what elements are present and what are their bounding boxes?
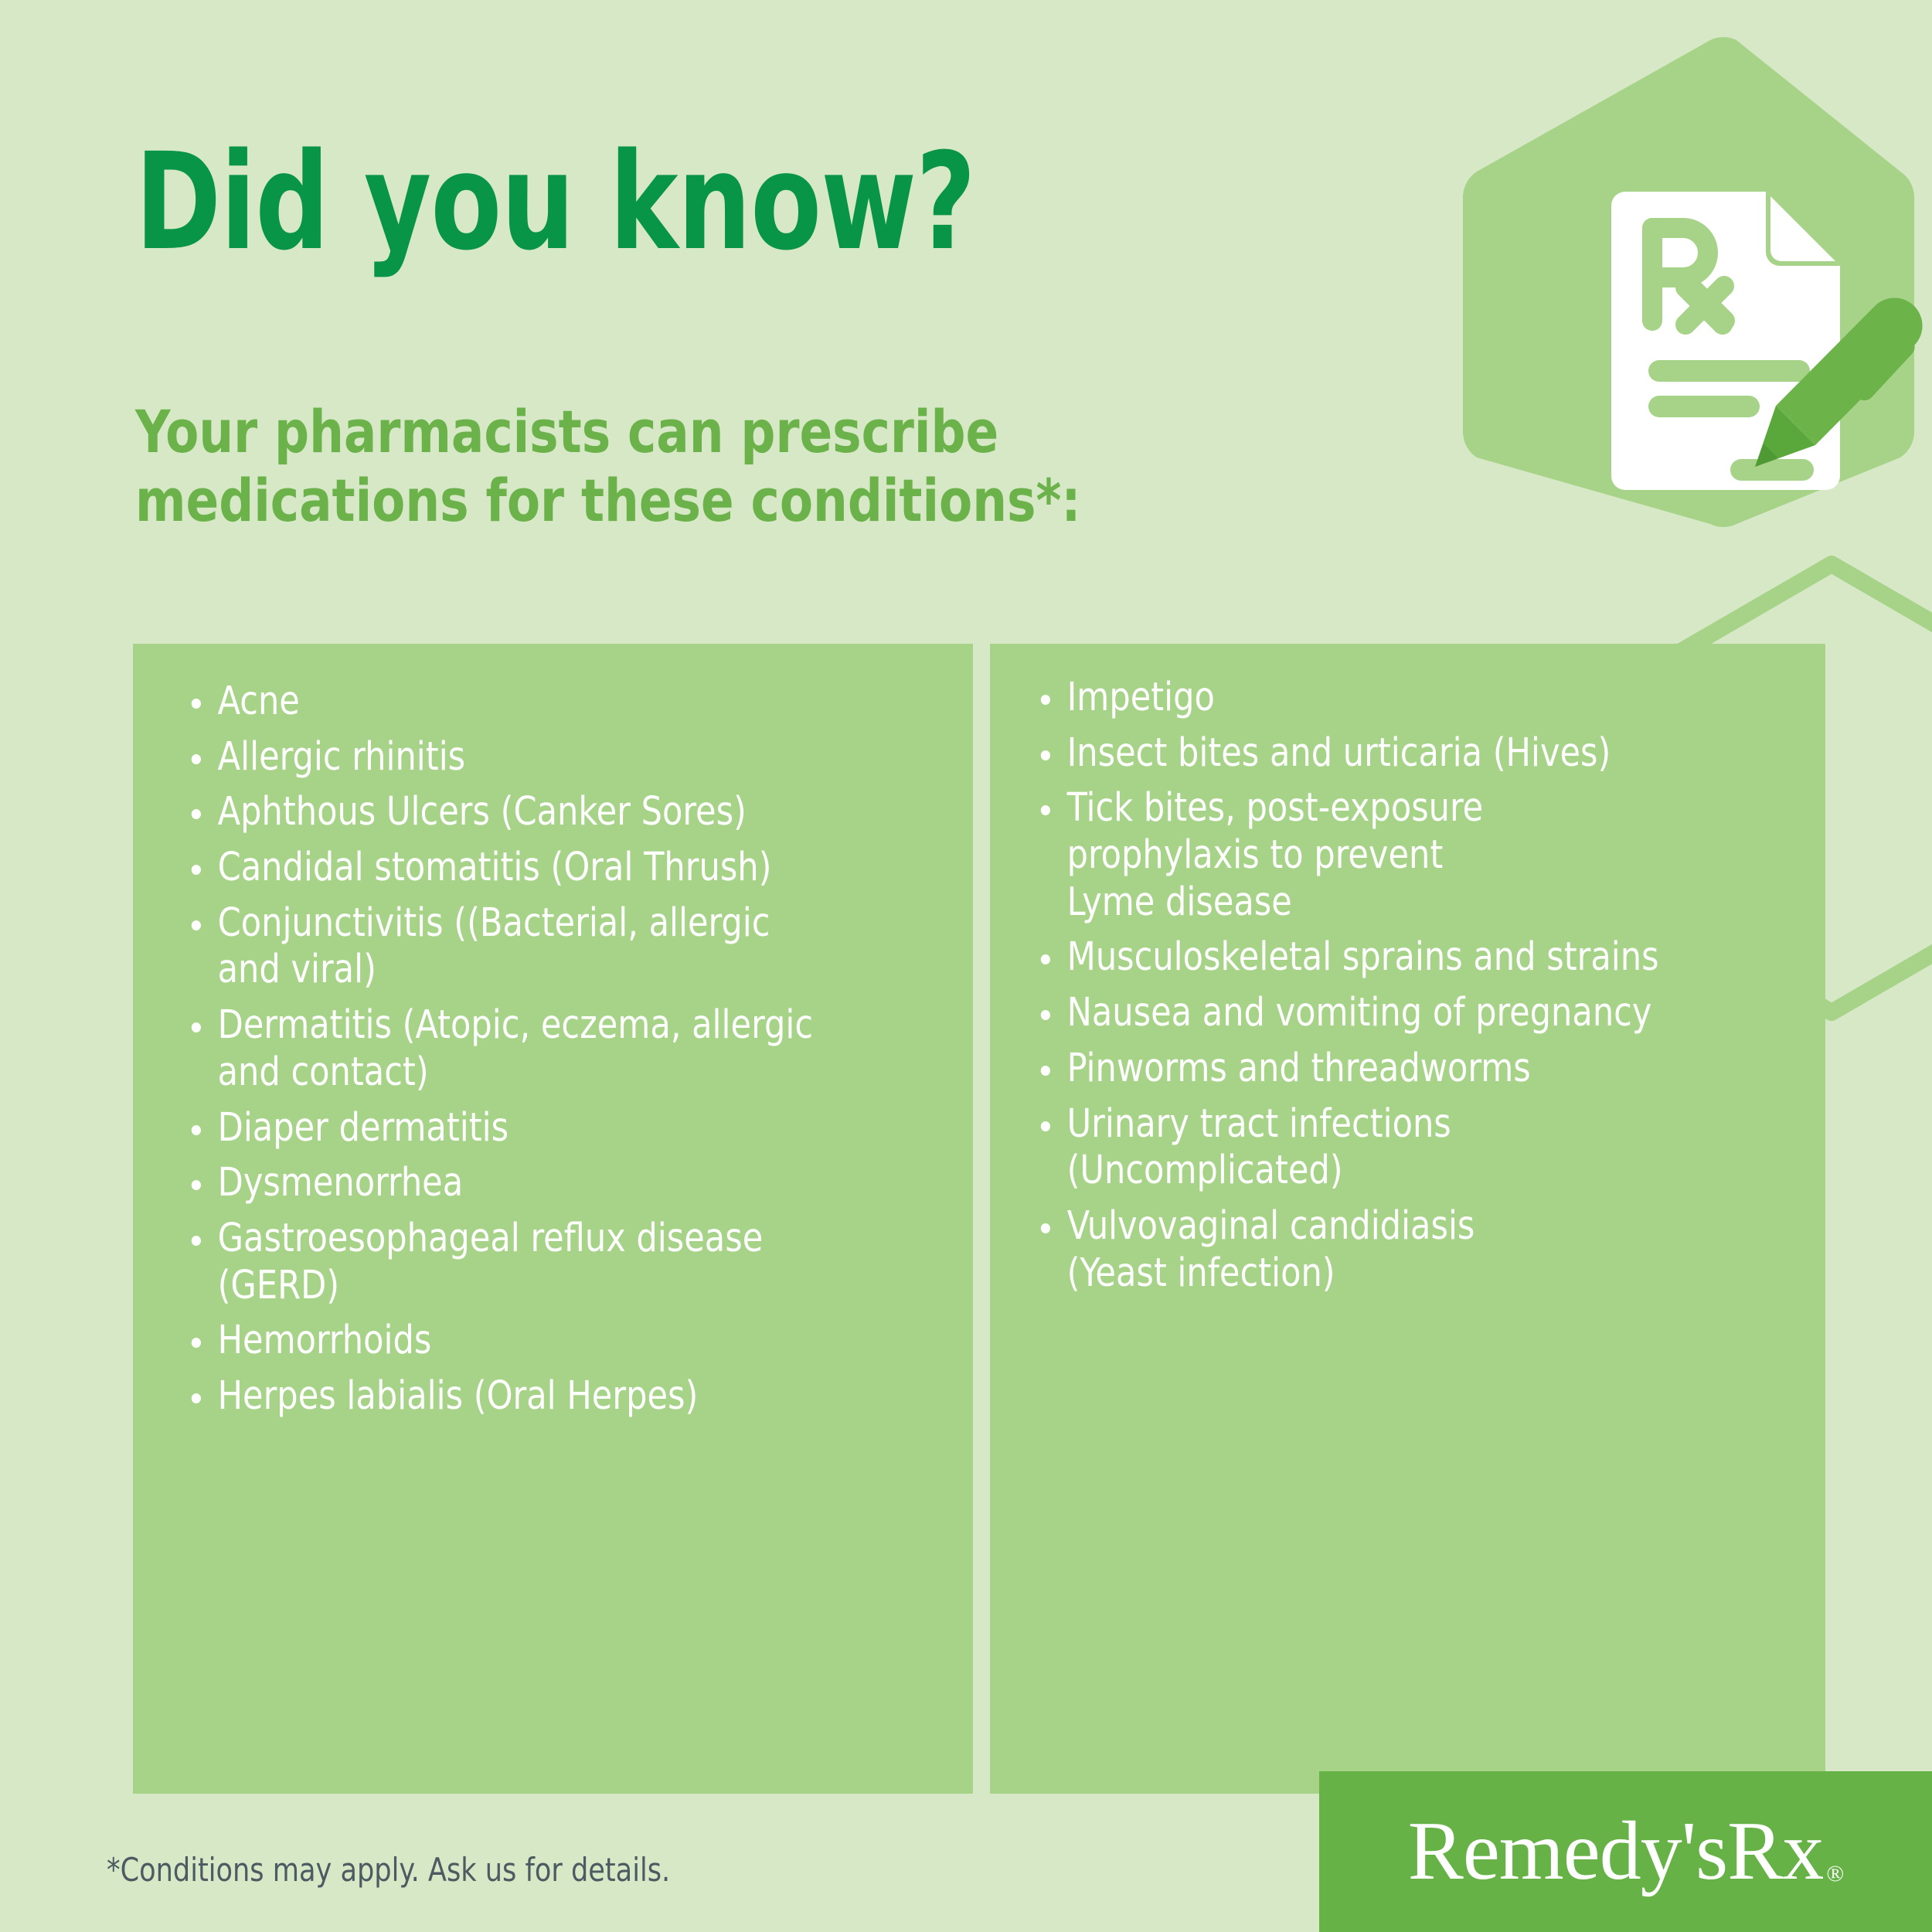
list-item: Dysmenorrhea xyxy=(189,1160,913,1207)
footnote-disclaimer: *Conditions may apply. Ask us for detail… xyxy=(107,1851,670,1889)
list-item: Candidal stomatitis (Oral Thrush) xyxy=(189,845,913,892)
conditions-list-right: Impetigo Insect bites and urticaria (Hiv… xyxy=(1038,675,1811,1305)
page-title: Did you know? xyxy=(135,135,1199,269)
list-item: Gastroesophageal reflux disease (GERD) xyxy=(189,1216,913,1309)
list-item: Conjunctivitis ((Bacterial, allergic and… xyxy=(189,900,913,994)
list-item: Insect bites and urticaria (Hives) xyxy=(1038,730,1765,777)
conditions-card-right: Impetigo Insect bites and urticaria (Hiv… xyxy=(990,644,1825,1794)
list-item: Urinary tract infections (Uncomplicated) xyxy=(1038,1101,1765,1195)
list-item: Hemorrhoids xyxy=(189,1318,913,1365)
conditions-list-left: Acne Allergic rhinitis Aphthous Ulcers (… xyxy=(189,679,959,1429)
conditions-cards: Acne Allergic rhinitis Aphthous Ulcers (… xyxy=(133,644,1825,1794)
list-item: Vulvovaginal candidiasis (Yeast infectio… xyxy=(1038,1203,1765,1297)
brand-logo-name: Remedy'sRx xyxy=(1408,1805,1823,1897)
list-item: Nausea and vomiting of pregnancy xyxy=(1038,990,1765,1037)
rx-prescription-icon xyxy=(1457,31,1932,533)
poster-canvas: Did you know? Your pharmacists can presc… xyxy=(0,0,1932,1932)
list-item: Allergic rhinitis xyxy=(189,734,913,781)
list-item: Impetigo xyxy=(1038,675,1765,722)
subtitle: Your pharmacists can prescribe medicatio… xyxy=(135,398,1308,536)
subtitle-line-1: Your pharmacists can prescribe xyxy=(135,398,1308,467)
brand-logo: Remedy'sRx ® xyxy=(1319,1771,1932,1932)
list-item: Acne xyxy=(189,679,913,726)
registered-trademark-icon: ® xyxy=(1826,1862,1843,1886)
list-item: Musculoskeletal sprains and strains xyxy=(1038,934,1765,981)
list-item: Herpes labialis (Oral Herpes) xyxy=(189,1373,913,1420)
conditions-card-left: Acne Allergic rhinitis Aphthous Ulcers (… xyxy=(133,644,973,1794)
list-item: Tick bites, post-exposure prophylaxis to… xyxy=(1038,785,1765,926)
subtitle-line-2: medications for these conditions*: xyxy=(135,467,1308,536)
list-item: Dermatitis (Atopic, eczema, allergic and… xyxy=(189,1002,913,1096)
list-item: Pinworms and threadworms xyxy=(1038,1046,1765,1093)
brand-logo-text: Remedy'sRx ® xyxy=(1408,1810,1843,1893)
list-item: Diaper dermatitis xyxy=(189,1105,913,1152)
list-item: Aphthous Ulcers (Canker Sores) xyxy=(189,789,913,836)
